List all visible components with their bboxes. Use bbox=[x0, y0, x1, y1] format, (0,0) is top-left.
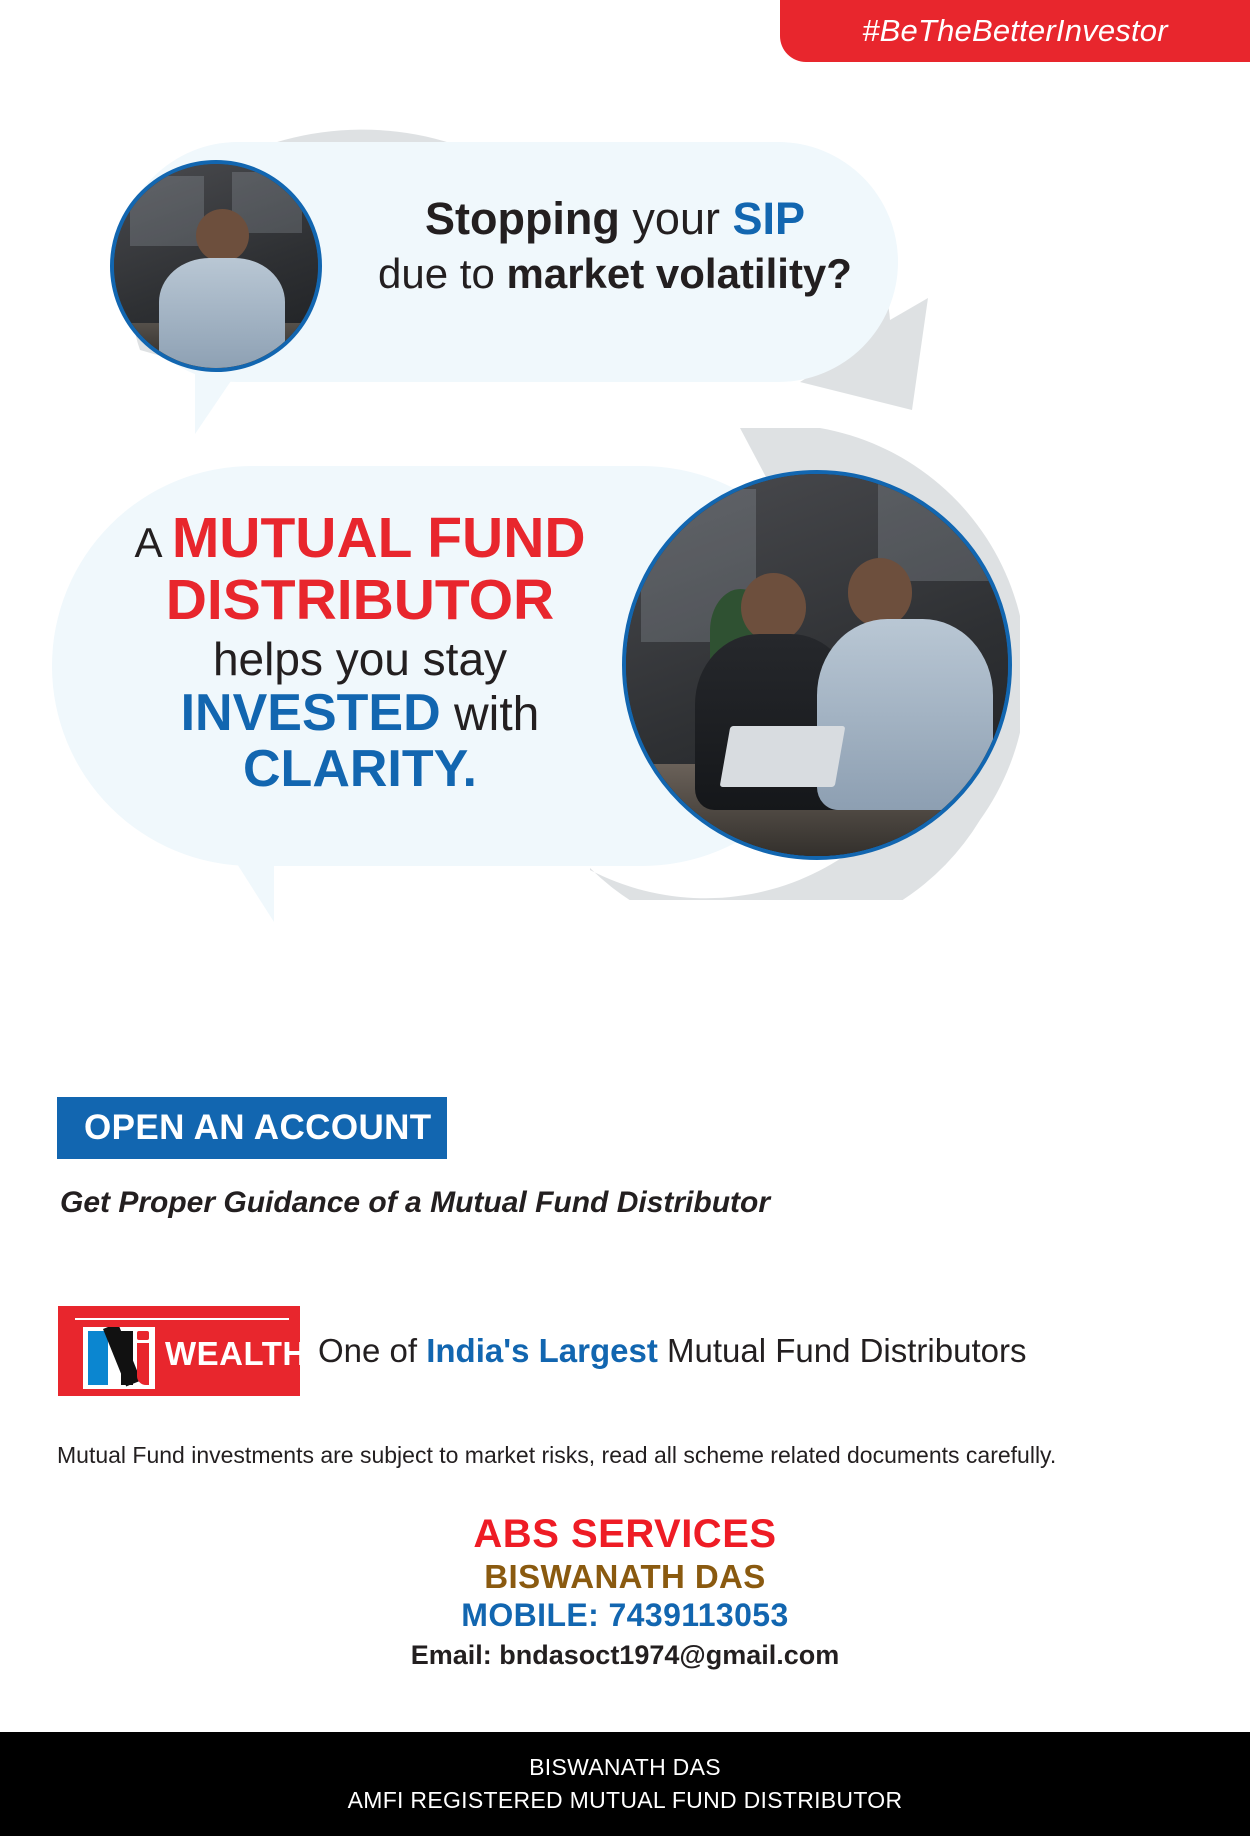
logo-rule bbox=[75, 1318, 289, 1320]
thinking-investor-photo bbox=[110, 160, 322, 372]
hashtag-banner: #BeTheBetterInvestor bbox=[780, 0, 1250, 62]
advisor-meeting-photo bbox=[622, 470, 1012, 860]
footer-bar: BISWANATH DAS AMFI REGISTERED MUTUAL FUN… bbox=[0, 1732, 1250, 1836]
risk-disclaimer: Mutual Fund investments are subject to m… bbox=[57, 1442, 1056, 1469]
top-bubble-text: Stopping your SIP due to market volatili… bbox=[345, 192, 885, 299]
nj-wealth-wordmark: WEALTH bbox=[165, 1335, 307, 1373]
nj-monogram-icon bbox=[83, 1327, 155, 1389]
main-line-5: CLARITY. bbox=[110, 741, 610, 797]
open-account-button[interactable]: OPEN AN ACCOUNT bbox=[57, 1097, 447, 1159]
top-line1-your: your bbox=[620, 193, 733, 244]
top-line1-sip: SIP bbox=[732, 193, 805, 244]
tagline-part-2: Mutual Fund Distributors bbox=[658, 1332, 1027, 1369]
main-line-2: DISTRIBUTOR bbox=[110, 570, 610, 632]
contact-person-name: BISWANATH DAS bbox=[0, 1559, 1250, 1596]
main-line-3: helps you stay bbox=[110, 635, 610, 685]
photo-scene bbox=[626, 474, 1008, 856]
top-line2-dueto: due to bbox=[378, 250, 506, 297]
main-line-1: A MUTUAL FUND bbox=[110, 508, 610, 570]
top-bubble-line-1: Stopping your SIP bbox=[345, 192, 885, 245]
footer-registration: AMFI REGISTERED MUTUAL FUND DISTRIBUTOR bbox=[348, 1787, 903, 1814]
hashtag-text: #BeTheBetterInvestor bbox=[862, 13, 1168, 49]
tagline-part-1: One of bbox=[318, 1332, 426, 1369]
contact-block: ABS SERVICES BISWANATH DAS MOBILE: 74391… bbox=[0, 1512, 1250, 1670]
nj-wealth-logo: WEALTH bbox=[58, 1306, 300, 1396]
poster-canvas: #BeTheBetterInvestor Stopping your SIP d… bbox=[0, 0, 1250, 1836]
footer-name: BISWANATH DAS bbox=[529, 1754, 721, 1781]
contact-mobile[interactable]: MOBILE: 7439113053 bbox=[0, 1598, 1250, 1634]
main-line1-mutualfund: MUTUAL FUND bbox=[172, 506, 586, 570]
cta-subtitle: Get Proper Guidance of a Mutual Fund Dis… bbox=[60, 1186, 770, 1220]
main-bubble-tail bbox=[232, 856, 274, 922]
nj-tagline: One of India's Largest Mutual Fund Distr… bbox=[318, 1332, 1026, 1370]
top-bubble-line-2: due to market volatility? bbox=[345, 249, 885, 299]
main-line4-invested: INVESTED bbox=[181, 684, 441, 742]
main-line-4: INVESTED with bbox=[110, 685, 610, 741]
tagline-highlight: India's Largest bbox=[426, 1332, 658, 1369]
top-line2-volatility: market volatility? bbox=[506, 250, 851, 297]
open-account-button-label: OPEN AN ACCOUNT bbox=[84, 1108, 432, 1148]
contact-email[interactable]: Email: bndasoct1974@gmail.com bbox=[0, 1640, 1250, 1670]
main-line4-with: with bbox=[441, 688, 540, 741]
top-line1-stopping: Stopping bbox=[425, 193, 620, 244]
main-bubble-text: A MUTUAL FUND DISTRIBUTOR helps you stay… bbox=[110, 508, 610, 797]
main-line1-a: A bbox=[134, 519, 171, 566]
contact-company-name: ABS SERVICES bbox=[0, 1512, 1250, 1557]
photo-scene bbox=[114, 164, 318, 368]
